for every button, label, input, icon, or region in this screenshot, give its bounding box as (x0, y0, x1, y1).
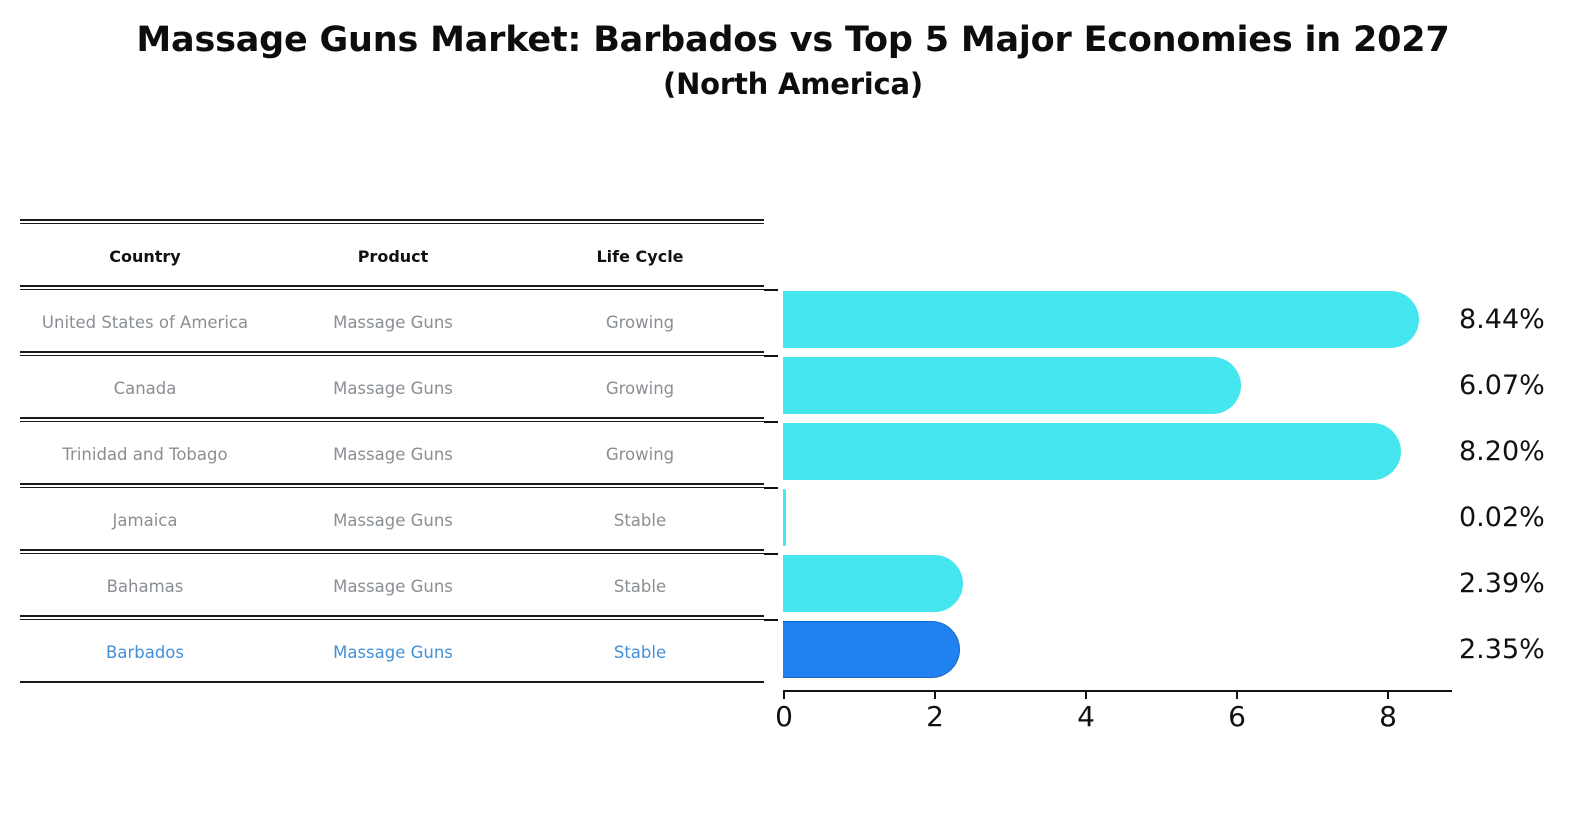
x-tick-label-8: 8 (1379, 700, 1397, 733)
bar-bahamas[interactable] (783, 555, 963, 612)
y-tick-5 (764, 619, 778, 621)
bar-united-states-of-america[interactable] (783, 291, 1419, 348)
y-tick-0 (764, 289, 778, 291)
x-tick-label-2: 2 (926, 700, 944, 733)
x-axis-line (783, 690, 1452, 692)
bar-value-label: 6.07% (1459, 357, 1545, 414)
x-tick-0 (783, 690, 785, 699)
bar-value-label: 8.44% (1459, 291, 1545, 348)
bar-value-label: 2.39% (1459, 555, 1545, 612)
bar-barbados[interactable] (783, 621, 960, 678)
chart-figure: Massage Guns Market: Barbados vs Top 5 M… (0, 0, 1586, 823)
bar-value-label: 0.02% (1459, 489, 1545, 546)
x-tick-8 (1387, 690, 1389, 699)
bar-trinidad-and-tobago[interactable] (783, 423, 1401, 480)
bar-value-label: 2.35% (1459, 621, 1545, 678)
x-tick-label-6: 6 (1228, 700, 1246, 733)
y-tick-4 (764, 553, 778, 555)
y-tick-3 (764, 487, 778, 489)
x-tick-label-0: 0 (775, 700, 793, 733)
y-tick-1 (764, 355, 778, 357)
x-tick-4 (1085, 690, 1087, 699)
x-tick-label-4: 4 (1077, 700, 1095, 733)
bar-chart: 8.44% 6.07% 8.20% 0.02% 2.39% 2.35% (0, 0, 1586, 823)
y-tick-2 (764, 421, 778, 423)
bar-canada[interactable] (783, 357, 1241, 414)
bar-jamaica[interactable] (783, 489, 786, 546)
x-tick-2 (934, 690, 936, 699)
x-tick-6 (1236, 690, 1238, 699)
bar-value-label: 8.20% (1459, 423, 1545, 480)
